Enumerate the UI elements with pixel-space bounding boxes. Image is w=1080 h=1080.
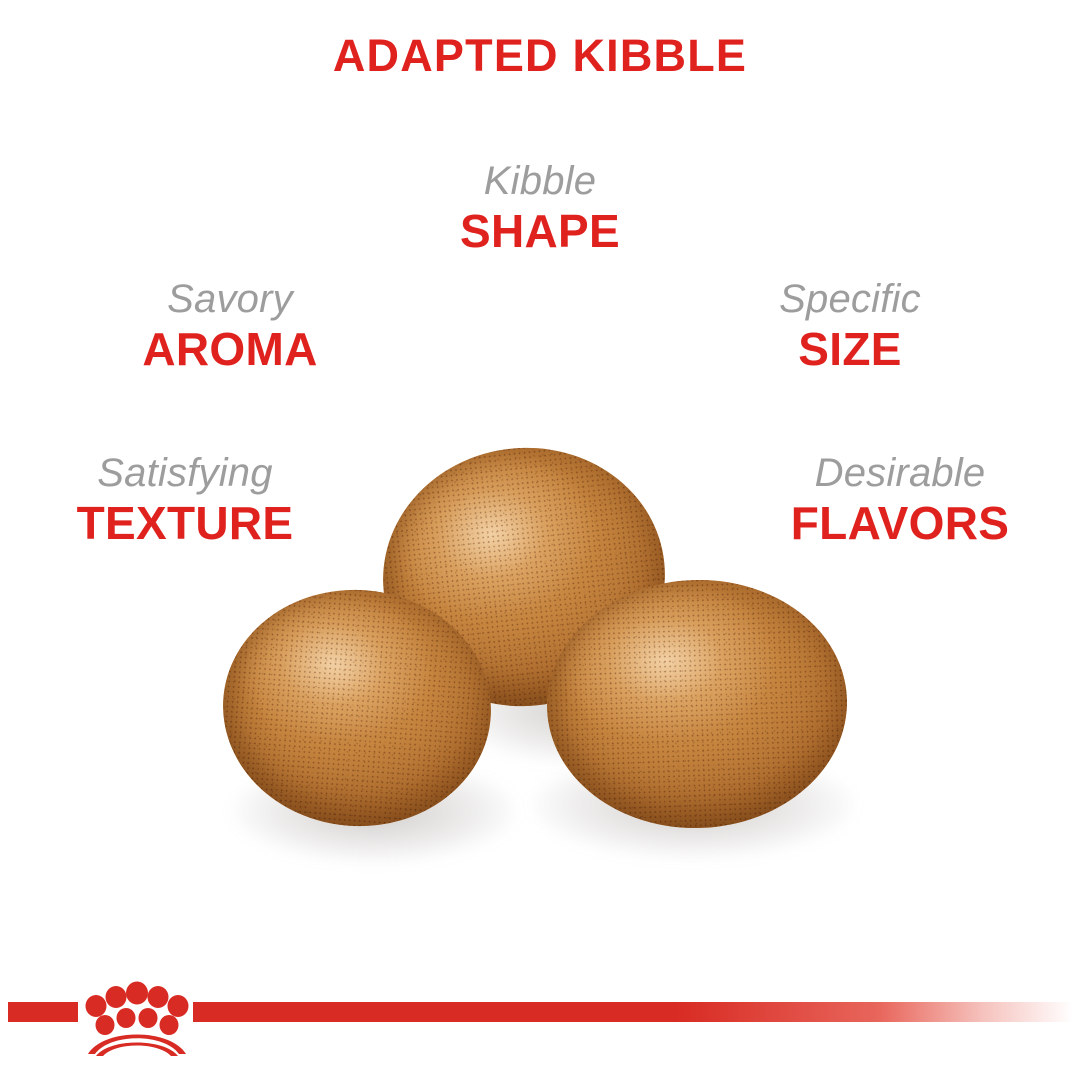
brand-bar-segment-left <box>8 1002 78 1022</box>
feature-specific-size: Specific SIZE <box>700 278 1000 375</box>
feature-kibble-shape: Kibble SHAPE <box>390 160 690 257</box>
feature-term: AROMA <box>80 324 380 375</box>
brand-bar-segment-right <box>193 1002 1073 1022</box>
footer-brand-bar <box>0 980 1080 1080</box>
feature-qualifier: Specific <box>700 278 1000 320</box>
feature-qualifier: Savory <box>80 278 380 320</box>
feature-term: SHAPE <box>390 206 690 257</box>
feature-savory-aroma: Savory AROMA <box>80 278 380 375</box>
feature-qualifier: Kibble <box>390 160 690 202</box>
feature-term: SIZE <box>700 324 1000 375</box>
kibble-illustration <box>195 430 895 890</box>
page-title: ADAPTED KIBBLE <box>0 33 1080 78</box>
royal-canin-crown-icon <box>82 970 192 1056</box>
